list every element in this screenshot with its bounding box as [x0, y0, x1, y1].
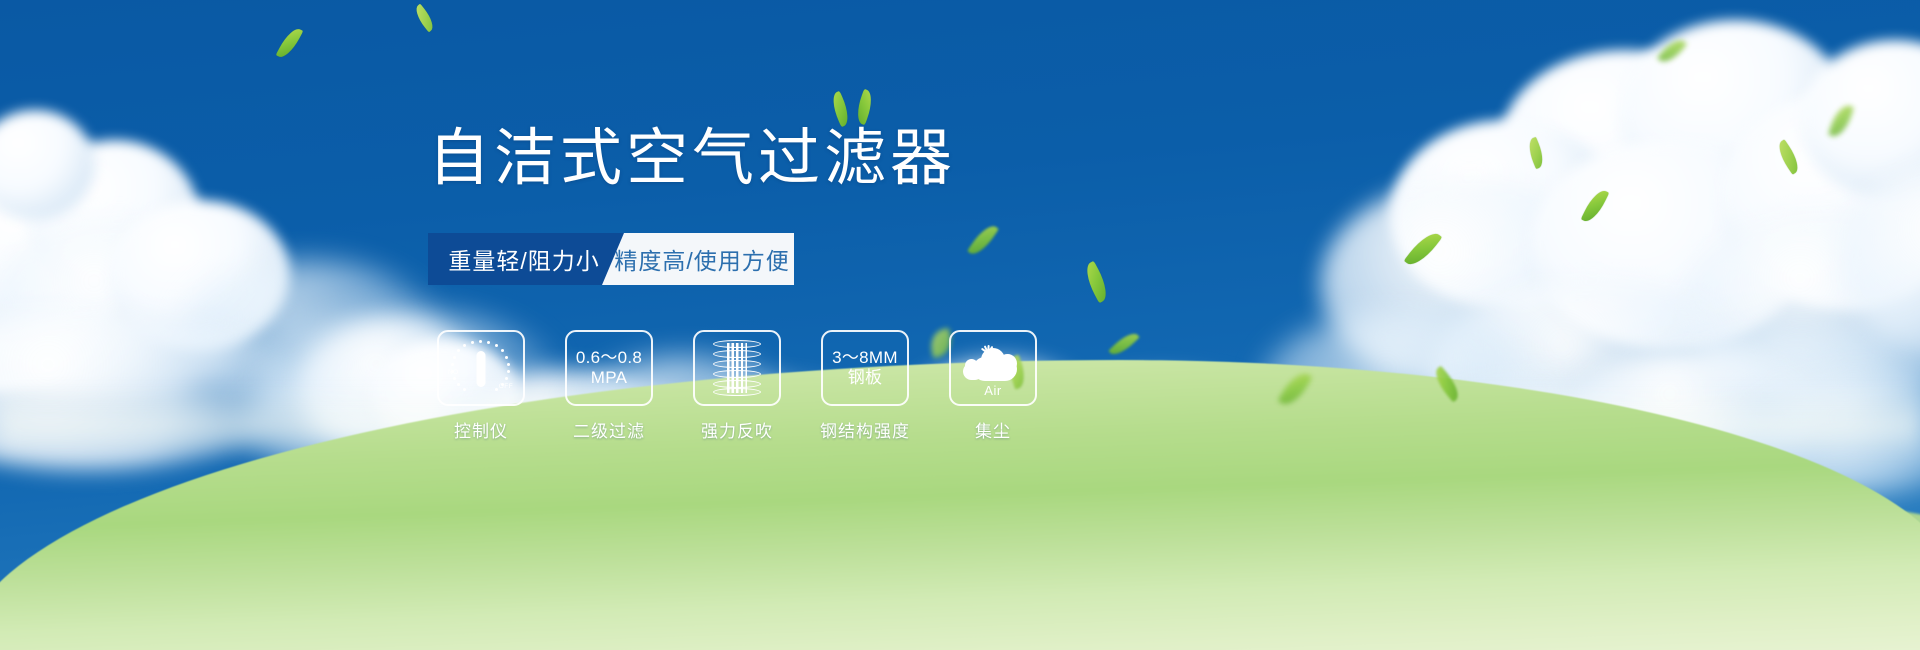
gauge-label-no: NO [448, 369, 459, 376]
tab-highprecision-easyuse[interactable]: 精度高/使用方便 [602, 233, 794, 285]
feature-item-two-stage-filter[interactable]: 0.6～0.8 MPA 二级过滤 [565, 330, 653, 442]
feature-caption-two-stage-filter: 二级过滤 [573, 417, 645, 442]
tab-lightweight-lowresistance[interactable]: 重量轻/阻力小 [428, 233, 624, 285]
sprout-leaf-right [853, 89, 877, 125]
feature-item-steel-strength[interactable]: 3～8MM 钢板 钢结构强度 [821, 330, 909, 442]
feature-box-controller: NO OFF [437, 330, 525, 406]
gauge-needle [477, 351, 486, 387]
steel-thickness-text: 3～8MM [832, 348, 898, 368]
pressure-unit-text: MPA [591, 368, 627, 388]
feature-caption-controller: 控制仪 [454, 417, 508, 442]
feature-caption-dust-collection: 集尘 [975, 417, 1011, 442]
product-banner: 自洁式空气过滤器 重量轻/阻力小 精度高/使用方便 [0, 0, 1920, 650]
page-title: 自洁式空气过滤器 [428, 128, 956, 190]
feature-box-pressure: 0.6～0.8 MPA [565, 330, 653, 406]
steel-plate-text: 钢板 [848, 368, 883, 388]
feature-item-dust-collection[interactable]: Air 集尘 [949, 330, 1037, 442]
feature-box-steel: 3～8MM 钢板 [821, 330, 909, 406]
feature-icon-list: NO OFF 控制仪 0.6～0.8 MPA 二级过滤 [437, 330, 1037, 442]
feature-item-backblow[interactable]: 强力反吹 [693, 330, 781, 442]
feature-item-controller[interactable]: NO OFF 控制仪 [437, 330, 525, 442]
gauge-label-off: OFF [499, 383, 513, 390]
gauge-switch-icon: NO OFF [450, 339, 512, 397]
filter-cartridge-icon [713, 339, 761, 397]
feature-caption-backblow: 强力反吹 [701, 417, 773, 442]
feature-caption-steel-strength: 钢结构强度 [820, 417, 910, 442]
leaf-sprout-icon [828, 90, 888, 134]
feature-box-backblow [693, 330, 781, 406]
title-block: 自洁式空气过滤器 [428, 128, 956, 190]
air-label: Air [951, 384, 1035, 399]
pressure-range-text: 0.6～0.8 [576, 348, 642, 368]
feature-tabs: 重量轻/阻力小 精度高/使用方便 [428, 233, 794, 285]
feature-box-air: Air [949, 330, 1037, 406]
sprout-leaf-left [828, 91, 854, 127]
